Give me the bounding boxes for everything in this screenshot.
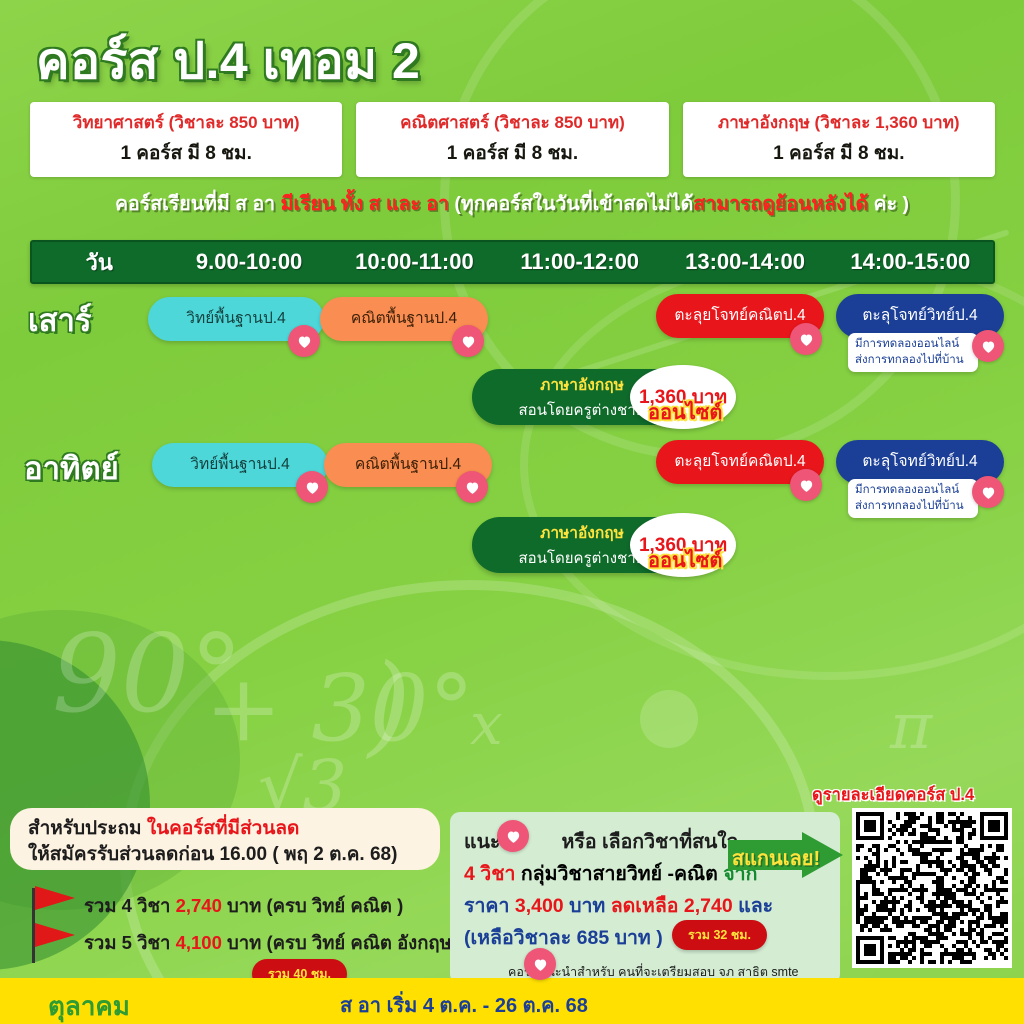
subject-name: วิทยาศาสตร์ (วิชาละ 850 บาท) — [36, 109, 336, 136]
english-subtitle: สอนโดยครูต่างชาติ — [519, 398, 646, 422]
note-part-2: มีเรียน ทั้ง ส และ อา — [281, 193, 455, 215]
column-header-slot-2: 10:00-11:00 — [332, 249, 497, 275]
bullet-pre: รวม 4 วิชา — [84, 895, 176, 916]
heart-icon — [296, 471, 328, 503]
bullet-post: บาท (ครบ วิทย์ คณิต ) — [222, 895, 403, 916]
promo-right-line3-a: ราคา — [464, 895, 515, 917]
note-part-3: (ทุกคอร์สในวันที่เข้าสดไม่ได้ — [454, 193, 693, 215]
chalk-paren: ) — [368, 640, 411, 768]
bullet-price: 4,100 — [176, 932, 222, 953]
qr-label: ดูรายละเอียดคอร์ส ป.4 — [812, 782, 974, 808]
class-note-sun-science: มีการทดลองออนไลน์ ส่งการทกลองไปที่บ้าน — [848, 479, 978, 518]
subject-hours: 1 คอร์ส มี 8 ชม. — [362, 138, 662, 168]
bullet-pre: รวม 5 วิชา — [84, 932, 176, 953]
promo-left-line2: ให้สมัครรับส่วนลดก่อน 16.00 ( พฤ 2 ต.ค. … — [28, 839, 397, 869]
promo-right-line1-b: หรือ เลือกวิชาที่สนใจ — [562, 831, 739, 853]
column-header-slot-5: 14:00-15:00 — [828, 249, 993, 275]
promo-right-line3-b: 3,400 — [515, 895, 564, 917]
scan-cta-label: สแกนเลย! — [730, 842, 822, 874]
promo-right-line2: 4 วิชา กลุ่มวิชาสายวิทย์ -คณิต จาก — [464, 858, 757, 889]
subject-box-science: วิทยาศาสตร์ (วิชาละ 850 บาท) 1 คอร์ส มี … — [30, 102, 342, 177]
promo-right-line3-d: ลดเหลือ 2,740 — [611, 895, 733, 917]
subject-box-row: วิทยาศาสตร์ (วิชาละ 850 บาท) 1 คอร์ส มี … — [30, 102, 995, 177]
promo-right-line3-c: บาท — [564, 895, 611, 917]
column-header-slot-1: 9.00-10:00 — [166, 249, 331, 275]
note-part-1: คอร์สเรียนที่มี ส อา — [115, 193, 281, 215]
bullet-post: บาท (ครบ วิทย์ คณิต อังกฤษ ) — [222, 932, 463, 953]
scan-now-cta[interactable]: สแกนเลย! — [728, 832, 843, 878]
english-title: ภาษาอังกฤษ — [540, 372, 624, 397]
promo-right-line2-b: กลุ่มวิชาสายวิทย์ -คณิต — [521, 863, 723, 885]
flag-icon — [35, 886, 75, 910]
subject-name: คณิตศาสตร์ (วิชาละ 850 บาท) — [362, 109, 662, 136]
column-header-slot-3: 11:00-12:00 — [497, 249, 662, 275]
heart-icon — [452, 325, 484, 357]
column-header-day: วัน — [32, 245, 166, 280]
promo-right-line3-e: และ — [733, 895, 773, 917]
page-title: คอร์ส ป.4 เทอม 2 — [36, 22, 420, 101]
subject-box-math: คณิตศาสตร์ (วิชาละ 850 บาท) 1 คอร์ส มี 8… — [356, 102, 668, 177]
promo-right-line4: (เหลือวิชาละ 685 บาท ) — [464, 922, 663, 953]
heart-icon — [972, 330, 1004, 362]
onsite-label-sun: ออนไซต์ — [648, 544, 722, 576]
promo-right-line3: ราคา 3,400 บาท ลดเหลือ 2,740 และ — [464, 890, 773, 921]
heart-icon — [288, 325, 320, 357]
chalk-x: x — [470, 690, 503, 758]
chalk-plus-30: + 30° — [205, 655, 474, 762]
onsite-label-sat: ออนไซต์ — [648, 396, 722, 428]
heart-icon — [790, 469, 822, 501]
subject-name: ภาษาอังกฤษ (วิชาละ 1,360 บาท) — [689, 109, 989, 136]
heart-icon — [456, 471, 488, 503]
day-label-saturday: เสาร์ — [28, 295, 92, 345]
promo-left-line1-b: ในคอร์สที่มีส่วนลด — [147, 818, 299, 839]
note-part-4: สามารถดูย้อนหลังได้ — [693, 193, 873, 215]
heart-icon — [790, 323, 822, 355]
promo-left-bullet-1: รวม 4 วิชา 2,740 บาท (ครบ วิทย์ คณิต ) — [84, 892, 403, 921]
heart-icon — [972, 476, 1004, 508]
header-note: คอร์สเรียนที่มี ส อา มีเรียน ทั้ง ส และ … — [0, 188, 1024, 219]
qr-code[interactable] — [852, 808, 1012, 968]
english-title: ภาษาอังกฤษ — [540, 520, 624, 545]
subject-hours: 1 คอร์ส มี 8 ชม. — [689, 138, 989, 168]
bullet-price: 2,740 — [176, 895, 222, 916]
hours-badge-right: รวม 32 ชม. — [672, 920, 767, 950]
footer-month: ตุลาคม — [48, 986, 130, 1024]
promo-left-line1-a: สำหรับประถม — [28, 818, 147, 839]
note-part-5: ค่ะ ) — [874, 193, 909, 215]
promo-right-line2-a: 4 วิชา — [464, 863, 521, 885]
subject-hours: 1 คอร์ส มี 8 ชม. — [36, 138, 336, 168]
chalk-pi: π — [890, 690, 932, 764]
english-subtitle: สอนโดยครูต่างชาติ — [519, 546, 646, 570]
footer-date-range: ส อา เริ่ม 4 ต.ค. - 26 ต.ค. 68 — [340, 989, 588, 1021]
chalk-angle-90: 90° — [52, 612, 243, 737]
decor-dot — [640, 690, 698, 748]
footer-bar: ตุลาคม ส อา เริ่ม 4 ต.ค. - 26 ต.ค. 68 — [0, 978, 1024, 1024]
heart-icon — [524, 948, 556, 980]
day-label-sunday: อาทิตย์ — [24, 443, 119, 493]
schedule-time-header: วัน 9.00-10:00 10:00-11:00 11:00-12:00 1… — [30, 240, 995, 284]
subject-box-english: ภาษาอังกฤษ (วิชาละ 1,360 บาท) 1 คอร์ส มี… — [683, 102, 995, 177]
promo-panel-left: สำหรับประถม ในคอร์สที่มีส่วนลด ให้สมัครร… — [10, 808, 440, 870]
flag-icon — [35, 923, 75, 947]
promo-left-bullet-2: รวม 5 วิชา 4,100 บาท (ครบ วิทย์ คณิต อัง… — [84, 929, 463, 958]
column-header-slot-4: 13:00-14:00 — [662, 249, 827, 275]
class-note-sat-science: มีการทดลองออนไลน์ ส่งการทกลองไปที่บ้าน — [848, 333, 978, 372]
heart-icon — [497, 820, 529, 852]
